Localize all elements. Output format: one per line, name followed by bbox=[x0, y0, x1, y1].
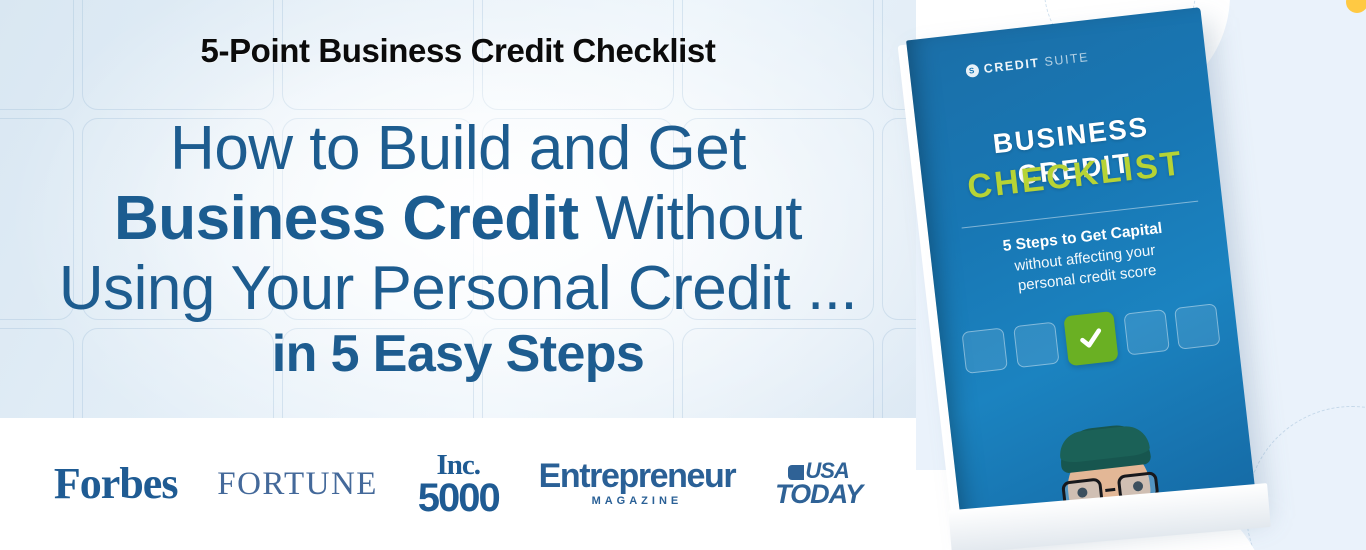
logo-forbes: Forbes bbox=[54, 462, 178, 506]
creditsuite-mark-icon: S bbox=[965, 63, 979, 77]
logo-entrepreneur-sub: MAGAZINE bbox=[539, 493, 736, 510]
book-subtitle: 5 Steps to Get Capital without affecting… bbox=[949, 213, 1220, 304]
logo-inc-bottom: 5000 bbox=[418, 480, 499, 516]
creditsuite-logo-light: SUITE bbox=[1044, 50, 1090, 69]
hero-text-block: 5-Point Business Credit Checklist How to… bbox=[0, 0, 916, 418]
logo-usa-today: USA TODAY bbox=[775, 461, 862, 508]
headline-line-2: Business Credit Without bbox=[0, 188, 916, 250]
checkbox-empty bbox=[961, 327, 1007, 373]
book-cover-mockup: S CREDITSUITE BUSINESS CREDIT CHECKLIST … bbox=[906, 7, 1262, 548]
check-icon bbox=[1077, 324, 1106, 353]
headline-line-2-rest: Without bbox=[579, 184, 802, 253]
book-front-cover: S CREDITSUITE BUSINESS CREDIT CHECKLIST … bbox=[906, 7, 1257, 542]
checkbox-empty bbox=[1174, 303, 1220, 349]
creditsuite-logo-bold: CREDIT bbox=[983, 56, 1040, 76]
logo-usa-bottom: TODAY bbox=[775, 482, 862, 508]
headline-line-4: in 5 Easy Steps bbox=[0, 328, 916, 380]
logo-entrepreneur-main: Entrepreneur bbox=[539, 459, 736, 493]
eye-left bbox=[1077, 487, 1088, 498]
book-checkbox-row bbox=[961, 299, 1221, 378]
promo-banner: 5-Point Business Credit Checklist How to… bbox=[0, 0, 1366, 550]
eye-right bbox=[1132, 481, 1143, 492]
hero-panel: 5-Point Business Credit Checklist How to… bbox=[0, 0, 916, 418]
book-mockup-area: S CREDITSUITE BUSINESS CREDIT CHECKLIST … bbox=[916, 0, 1366, 550]
usa-today-mark-icon bbox=[788, 465, 804, 480]
checkbox-checked bbox=[1063, 311, 1118, 366]
headline-line-1: How to Build and Get bbox=[0, 118, 916, 180]
glasses-bridge bbox=[1105, 487, 1115, 491]
headline-bold-business-credit: Business Credit bbox=[114, 184, 579, 253]
logo-entrepreneur: Entrepreneur MAGAZINE bbox=[539, 459, 736, 510]
logo-fortune: FORTUNE bbox=[217, 468, 378, 501]
headline-line-3: Using Your Personal Credit ... bbox=[0, 258, 916, 320]
creditsuite-logo: S CREDITSUITE bbox=[965, 50, 1090, 78]
press-logo-bar: Forbes FORTUNE Inc. 5000 Entrepreneur MA… bbox=[0, 418, 916, 550]
logo-inc-5000: Inc. 5000 bbox=[418, 452, 499, 515]
checkbox-empty bbox=[1013, 322, 1059, 368]
eyebrow-headline: 5-Point Business Credit Checklist bbox=[0, 32, 916, 70]
checkbox-empty bbox=[1123, 309, 1169, 355]
